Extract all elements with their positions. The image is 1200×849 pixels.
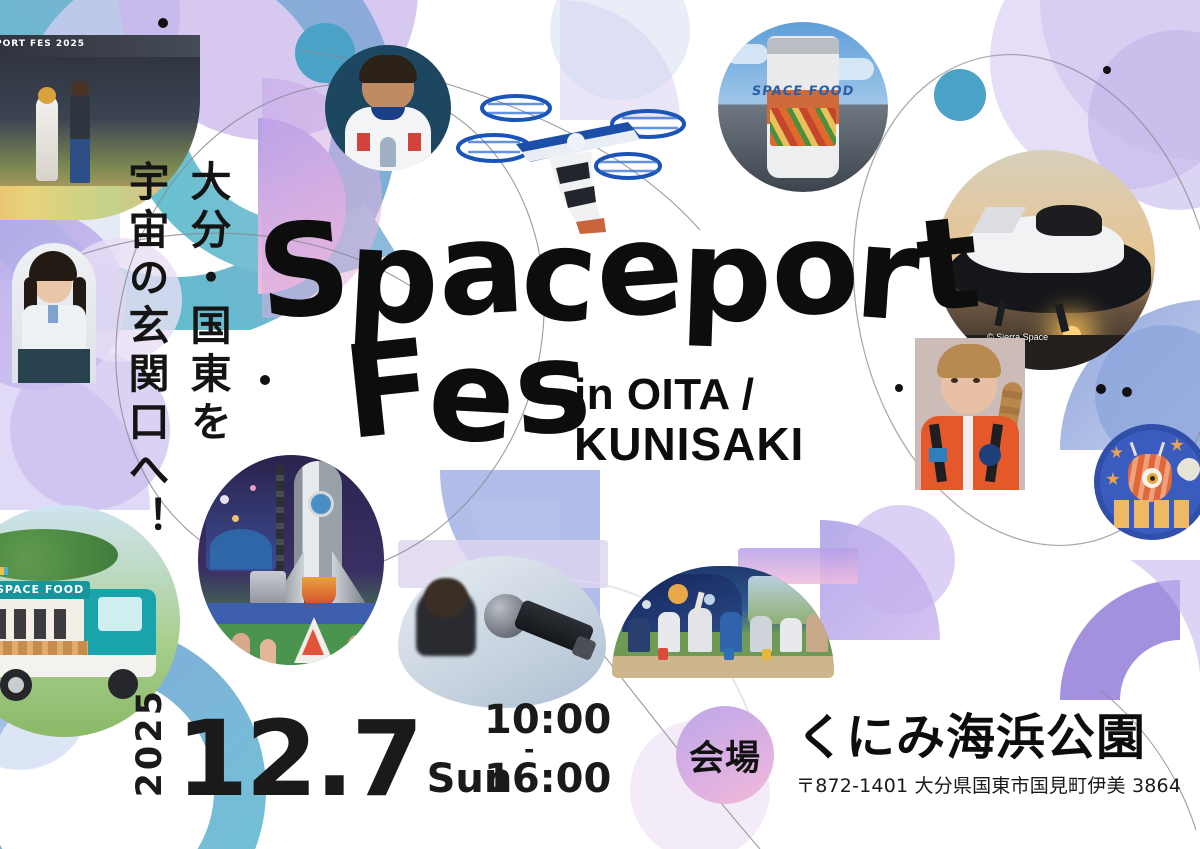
- event-day: 12.7: [176, 716, 421, 803]
- event-date: 2025 12.7 Sun: [130, 688, 512, 803]
- title-line-1: S p a c e p o r t: [258, 218, 977, 323]
- text-content: 大分・国東を 宇宙の玄関口へ！ S p a c e p o r t F e s …: [0, 0, 1200, 849]
- subtitle: in OITA / KUNISAKI: [574, 370, 804, 471]
- tagline-right: 大分・国東を: [186, 160, 227, 448]
- time-end: 16:00: [484, 759, 611, 799]
- venue-text-group: くにみ海浜公園 〒872-1401 大分県国東市国見町伊美 3864: [796, 712, 1181, 798]
- subtitle-line-2: KUNISAKI: [574, 419, 804, 471]
- event-time: 10:00 - 16:00: [484, 700, 611, 799]
- venue-badge: 会場: [676, 706, 774, 804]
- time-start: 10:00: [484, 700, 611, 740]
- tagline-left: 宇宙の玄関口へ！: [124, 160, 165, 544]
- venue-info: 会場 くにみ海浜公園 〒872-1401 大分県国東市国見町伊美 3864: [676, 706, 1181, 804]
- venue-address: 〒872-1401 大分県国東市国見町伊美 3864: [796, 771, 1181, 798]
- poster-canvas: SPACEPORT FES 2025: [0, 0, 1200, 849]
- time-separator: -: [524, 742, 611, 757]
- venue-name: くにみ海浜公園: [796, 712, 1181, 764]
- subtitle-line-1: in OITA /: [574, 370, 804, 419]
- event-year: 2025: [130, 688, 170, 797]
